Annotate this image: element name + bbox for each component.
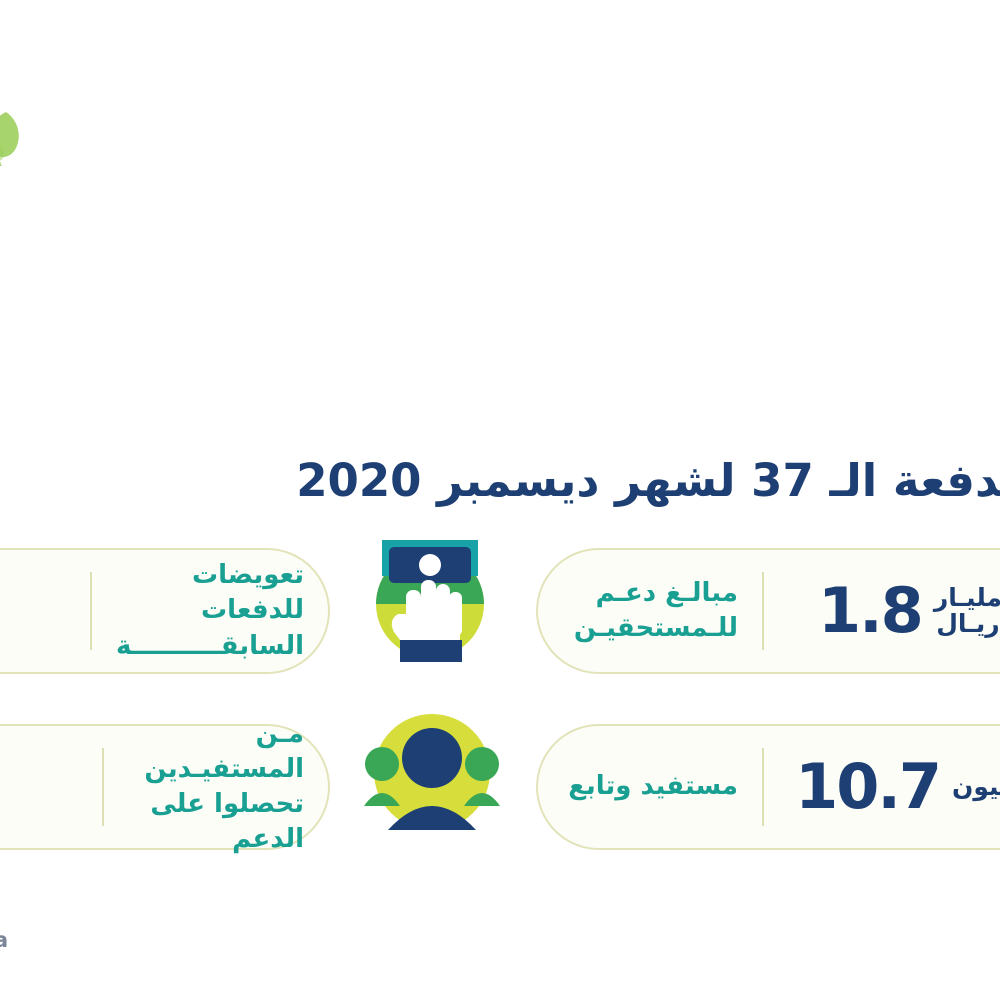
watermark-text: a xyxy=(0,928,8,952)
stat-unit: مليـار ريـال xyxy=(934,585,1000,638)
brand-logo xyxy=(0,108,34,180)
icon-people-group-slot xyxy=(362,706,502,846)
stat-value-group: مليـار ريـال 1.8 xyxy=(764,580,1000,642)
card-divider xyxy=(102,748,104,826)
card-divider xyxy=(90,572,92,650)
stat-value: 10.7 xyxy=(795,756,940,818)
banknote-hand-icon xyxy=(362,530,502,670)
stat-label: مـن المستفيـدين تحصلوا على الدعم xyxy=(104,717,328,857)
stat-label: مبالـغ دعـم للـمستحقيـن xyxy=(538,576,762,646)
stat-value: 1.8 xyxy=(818,580,922,642)
stat-label: مستفيد وتابع xyxy=(538,769,762,804)
card-divider xyxy=(762,572,764,650)
stat-unit: مليون xyxy=(952,774,1000,800)
stat-label: تعويضات للدفعات السابقــــــــــة xyxy=(92,558,328,663)
stats-card-grid: مليـار ريـال 1.8 مبالـغ دعـم للـمستحقيـن… xyxy=(0,548,1000,858)
infographic-title-row: ل الدفعة الـ 37 لشهر ديسمبر 2020 xyxy=(0,444,1000,518)
page-title: ل الدفعة الـ 37 لشهر ديسمبر 2020 xyxy=(296,456,1000,506)
stat-card-beneficiaries-received-support[interactable]: مـن المستفيـدين تحصلوا على الدعم 79 xyxy=(0,724,330,850)
stat-value-group: 18 xyxy=(0,580,90,642)
stat-value-group: 79 xyxy=(0,756,102,818)
stat-card-previous-payment-compensation[interactable]: تعويضات للدفعات السابقــــــــــة 18 xyxy=(0,548,330,674)
stat-value-group: مليون 10.7 xyxy=(764,756,1000,818)
icon-banknote-hand-slot xyxy=(362,530,502,670)
stat-card-beneficiaries-count[interactable]: مليون 10.7 مستفيد وتابع xyxy=(536,724,1000,850)
people-group-icon xyxy=(362,706,502,846)
card-divider xyxy=(762,748,764,826)
stat-card-support-amount[interactable]: مليـار ريـال 1.8 مبالـغ دعـم للـمستحقيـن xyxy=(536,548,1000,674)
